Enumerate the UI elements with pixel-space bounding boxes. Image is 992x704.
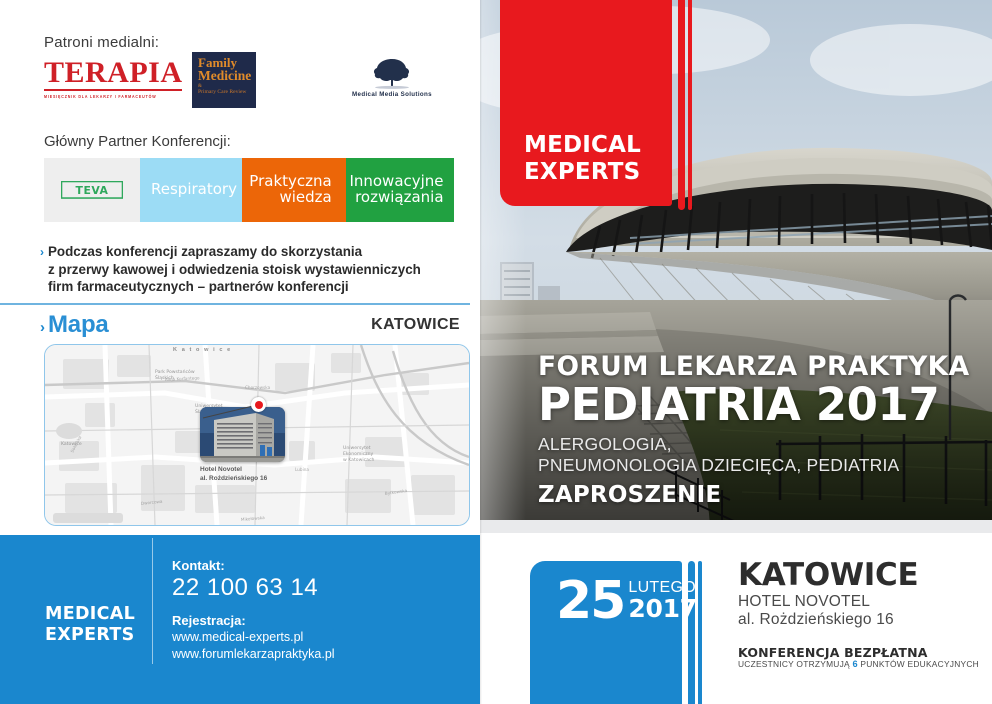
partner-box-praktyczna-wiedza-label: Praktyczna wiedza xyxy=(249,174,338,206)
family-medicine-logo: Family Medicine & Primary Care Review xyxy=(192,52,256,108)
map-city-label: KATOWICE xyxy=(371,316,460,334)
left-panel: Patroni medialni: TERAPIA MIESIĘCZNIK DL… xyxy=(0,0,480,704)
media-partner-logos: TERAPIA MIESIĘCZNIK DLA LEKARZY I FARMAC… xyxy=(44,52,444,114)
svg-text:Chorzowska: Chorzowska xyxy=(245,385,271,390)
svg-text:Śląskich: Śląskich xyxy=(155,374,174,381)
medical-media-solutions-logo: Medical Media Solutions xyxy=(340,56,444,98)
coffee-break-line3: firm farmaceutycznych – partnerów konfer… xyxy=(48,278,421,296)
map-title: Mapa xyxy=(48,311,109,339)
svg-text:Park Powstańców: Park Powstańców xyxy=(155,368,195,375)
hotel-caption-line2: al. Rożdzieńskiego 16 xyxy=(200,474,267,483)
family-medicine-line4: Primary Care Review xyxy=(198,90,250,96)
footer-brand-line2: EXPERTS xyxy=(45,625,135,646)
venue-hotel: HOTEL NOVOTEL xyxy=(738,592,870,611)
svg-text:w Katowicach: w Katowicach xyxy=(343,457,374,463)
date-year: 2017 xyxy=(628,596,696,621)
registration-url-1[interactable]: www.medical-experts.pl xyxy=(172,630,303,644)
points-suffix: PUNKTÓW EDUKACYJNYCH xyxy=(860,659,979,669)
map-heading-row: › Mapa KATOWICE xyxy=(40,309,460,341)
event-kind: ZAPROSZENIE xyxy=(538,481,988,509)
svg-text:Katowice: Katowice xyxy=(61,441,82,447)
event-subtitle-line2: PNEUMONOLOGIA DZIECIĘCA, PEDIATRIA xyxy=(538,455,988,476)
page-seam xyxy=(480,0,482,704)
red-stripe-inner xyxy=(688,0,692,210)
registration-url-2[interactable]: www.forumlekarzapraktyka.pl xyxy=(172,647,335,661)
coffee-break-line1: Podczas konferencji zapraszamy do skorzy… xyxy=(48,243,421,261)
red-stripe-outer xyxy=(678,0,685,210)
footer-brand-line1: MEDICAL xyxy=(45,604,135,625)
badge-line1: MEDICAL xyxy=(524,132,641,159)
badge-text: MEDICAL EXPERTS xyxy=(524,132,641,186)
hotel-caption-line1: Hotel Novotel xyxy=(200,465,267,474)
points-value: 6 xyxy=(852,659,857,669)
pw-line2: wiedza xyxy=(249,190,331,206)
partner-box-teva: TEVA xyxy=(44,158,140,222)
badge-line2: EXPERTS xyxy=(524,159,641,186)
partner-box-innowacyjne-rozwiazania: Innowacyjne rozwiązania xyxy=(346,158,454,222)
partner-box-respiratory-label: Respiratory xyxy=(145,182,237,198)
event-main-title: PEDIATRIA 2017 xyxy=(538,380,988,430)
coffee-break-line2: z przerwy kawowej i odwiedzenia stoisk w… xyxy=(48,261,421,279)
tree-icon xyxy=(369,56,415,90)
bullet-chevron-icon: › xyxy=(40,243,44,261)
medical-media-solutions-caption: Medical Media Solutions xyxy=(340,91,444,98)
free-conference-label: KONFERENCJA BEZPŁATNA xyxy=(738,645,928,660)
event-title-block: FORUM LEKARZA PRAKTYKA PEDIATRIA 2017 AL… xyxy=(538,352,988,509)
coffee-break-note: › Podczas konferencji zapraszamy do skor… xyxy=(40,243,460,296)
partner-box-praktyczna-wiedza: Praktyczna wiedza xyxy=(242,158,346,222)
family-medicine-line2: Medicine xyxy=(198,69,250,83)
family-medicine-line1: Family xyxy=(198,56,250,69)
section-divider xyxy=(0,303,470,305)
svg-text:Lubina: Lubina xyxy=(295,467,309,472)
right-panel: MEDICAL EXPERTS FORUM LEKARZA PRAKTYKA P… xyxy=(480,0,992,704)
ir-line2: rozwiązania xyxy=(349,190,443,206)
invitation-flyer: Patroni medialni: TERAPIA MIESIĘCZNIK DL… xyxy=(0,0,992,704)
map-city-name: K a t o w i c e xyxy=(173,347,232,353)
terapia-logo: TERAPIA MIESIĘCZNIK DLA LEKARZY I FARMAC… xyxy=(44,58,184,98)
location-map[interactable]: Aleja Korfantego Chorzowska Sokolska Dwo… xyxy=(44,344,470,526)
event-subtitle-line1: ALERGOLOGIA, xyxy=(538,434,988,455)
partner-box-respiratory: Respiratory xyxy=(140,158,242,222)
svg-text:Uniwersytet: Uniwersytet xyxy=(343,445,371,451)
venue-address: al. Rożdzieńskiego 16 xyxy=(738,610,894,629)
education-points-note: UCZESTNICY OTRZYMUJĄ 6 PUNKTÓW EDUKACYJN… xyxy=(738,659,979,669)
partner-box-innowacyjne-label: Innowacyjne rozwiązania xyxy=(349,174,450,206)
contact-label: Kontakt: xyxy=(172,558,225,573)
blue-stripe-inner xyxy=(698,561,702,704)
map-chevron-icon: › xyxy=(40,319,45,336)
contact-phone[interactable]: 22 100 63 14 xyxy=(172,574,318,602)
svg-text:TEVA: TEVA xyxy=(76,184,109,197)
partner-boxes: TEVA Respiratory Praktyczna wiedza Innow… xyxy=(44,158,454,222)
event-subtitle: ALERGOLOGIA, PNEUMONOLOGIA DZIECIĘCA, PE… xyxy=(538,434,988,476)
terapia-rule xyxy=(44,89,182,91)
hotel-caption: Hotel Novotel al. Rożdzieńskiego 16 xyxy=(200,465,267,483)
footer-vertical-rule xyxy=(152,538,153,664)
points-prefix: UCZESTNICY OTRZYMUJĄ xyxy=(738,659,850,669)
venue-city: KATOWICE xyxy=(738,558,918,592)
teva-logo-icon: TEVA xyxy=(61,181,123,199)
main-partner-label: Główny Partner Konferencji: xyxy=(44,133,231,150)
coffee-break-text: Podczas konferencji zapraszamy do skorzy… xyxy=(48,243,421,296)
media-partners-label: Patroni medialni: xyxy=(44,34,159,51)
map-pin-marker[interactable] xyxy=(251,397,266,412)
footer-brand: MEDICAL EXPERTS xyxy=(45,604,135,646)
terapia-subtitle: MIESIĘCZNIK DLA LEKARZY I FARMACEUTÓW xyxy=(44,94,184,99)
date-content: 25 LUTEGO 2017 xyxy=(556,576,697,626)
svg-text:Ekonomiczny: Ekonomiczny xyxy=(343,451,374,457)
date-day: 25 xyxy=(556,576,624,626)
terapia-wordmark: TERAPIA xyxy=(44,58,184,88)
registration-label: Rejestracja: xyxy=(172,613,246,628)
